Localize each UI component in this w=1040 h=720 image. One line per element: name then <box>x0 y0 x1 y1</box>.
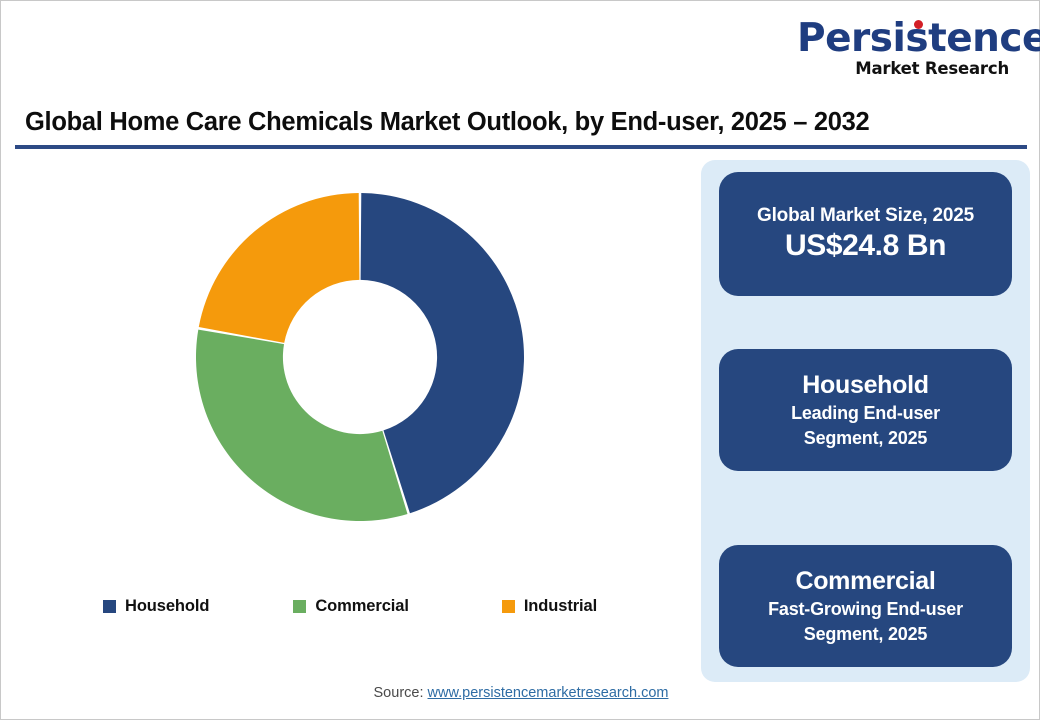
highlights-panel: Global Market Size, 2025 US$24.8 Bn Hous… <box>701 160 1030 682</box>
chart-container <box>15 156 687 576</box>
legend-swatch-household <box>103 600 116 613</box>
donut-slice-commercial[interactable] <box>196 330 407 521</box>
legend-swatch-industrial <box>502 600 515 613</box>
fast-growing-segment-line1: Fast-Growing End-user <box>768 597 963 622</box>
legend-label-industrial: Industrial <box>524 597 597 616</box>
highlight-card-global-market-size: Global Market Size, 2025 US$24.8 Bn <box>719 172 1012 296</box>
source-label: Source: <box>374 685 428 701</box>
chart-legend: Household Commercial Industrial <box>15 591 687 621</box>
logo-tagline: Market Research <box>797 60 1009 77</box>
infographic-page: Persistence Market Research Global Home … <box>0 0 1040 720</box>
donut-chart <box>192 189 528 525</box>
legend-label-commercial: Commercial <box>315 597 408 616</box>
highlight-card-fast-growing-segment: Commercial Fast-Growing End-user Segment… <box>719 545 1012 667</box>
legend-item-commercial[interactable]: Commercial <box>293 597 408 616</box>
fast-growing-segment-name: Commercial <box>795 566 935 597</box>
leading-segment-line2: Segment, 2025 <box>804 426 927 451</box>
market-size-label: Global Market Size, 2025 <box>757 204 974 228</box>
donut-slices <box>196 193 524 521</box>
leading-segment-name: Household <box>802 370 928 401</box>
market-size-value: US$24.8 Bn <box>785 228 946 264</box>
fast-growing-segment-line2: Segment, 2025 <box>804 622 927 647</box>
registered-dot-icon <box>914 20 923 29</box>
legend-item-industrial[interactable]: Industrial <box>502 597 597 616</box>
donut-chart-svg <box>192 189 528 525</box>
highlight-card-leading-segment: Household Leading End-user Segment, 2025 <box>719 349 1012 471</box>
legend-swatch-commercial <box>293 600 306 613</box>
donut-slice-industrial[interactable] <box>199 193 360 343</box>
page-title: Global Home Care Chemicals Market Outloo… <box>25 107 1015 137</box>
legend-label-household: Household <box>125 597 209 616</box>
leading-segment-line1: Leading End-user <box>791 401 940 426</box>
logo-wordmark: Persistence <box>797 19 1009 58</box>
title-divider <box>15 145 1027 149</box>
legend-item-household[interactable]: Household <box>103 597 209 616</box>
company-logo: Persistence Market Research <box>797 19 1009 77</box>
source-footer: Source: www.persistencemarketresearch.co… <box>1 685 1040 701</box>
source-link[interactable]: www.persistencemarketresearch.com <box>428 685 669 701</box>
